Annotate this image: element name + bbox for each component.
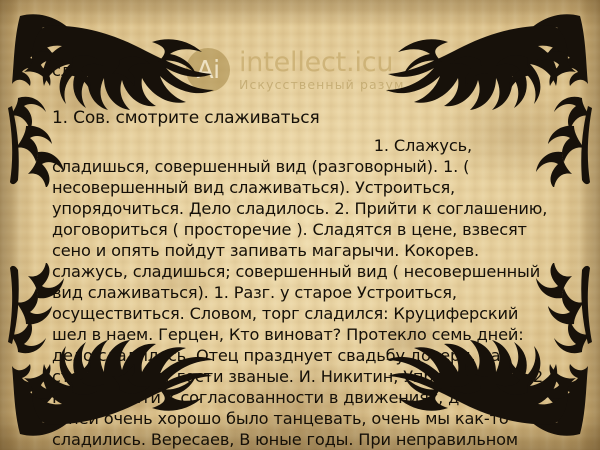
entry-headword: сладиться bbox=[52, 60, 550, 81]
dictionary-entry: сладиться 1. Сов. смотрите слаживаться 1… bbox=[52, 60, 550, 450]
slide-canvas: сладиться 1. Сов. смотрите слаживаться 1… bbox=[0, 0, 600, 450]
entry-sense-reference: 1. Сов. смотрите слаживаться bbox=[52, 107, 550, 129]
entry-inflection-first: 1. Слажусь, bbox=[52, 135, 550, 156]
entry-definition-block-1: сладишься, совершенный вид (разговорный)… bbox=[52, 157, 550, 262]
entry-definition-block-3: сладились. Вересаев, В юные годы. При не… bbox=[52, 430, 550, 450]
paper-top-shade bbox=[0, 0, 600, 26]
paper-right-shade bbox=[566, 0, 600, 450]
entry-definition-block-2: слажусь, сладишься; совершенный вид ( не… bbox=[52, 262, 550, 430]
paper-left-shade bbox=[0, 0, 34, 450]
